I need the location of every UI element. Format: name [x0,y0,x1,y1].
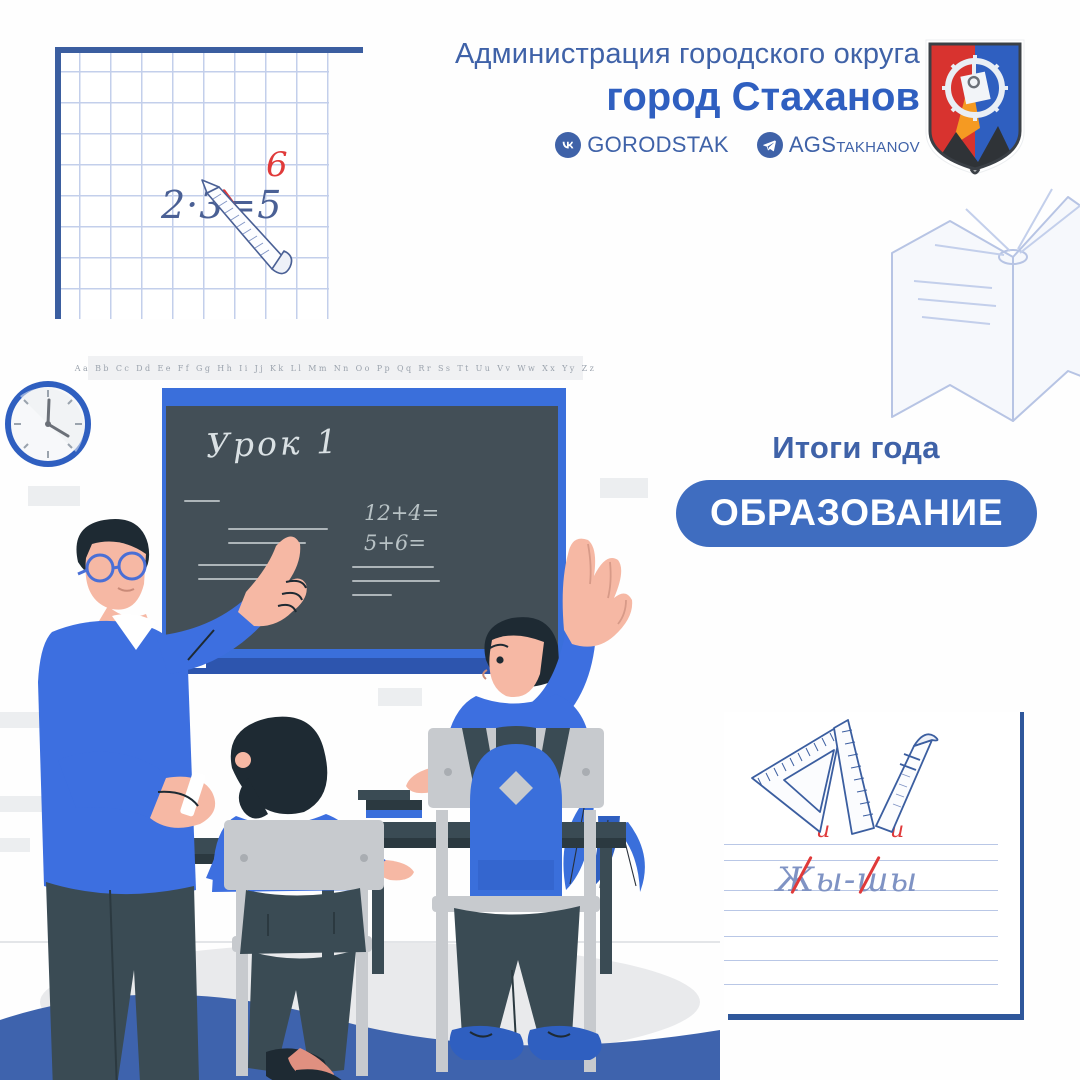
poster-canvas: 2·3=5 6 Администрация городского округа … [0,0,1080,1080]
telegram-icon [757,132,783,158]
coat-of-arms [922,36,1028,178]
ruler-and-pencil-icons [724,712,1020,1014]
city-name: город Стаханов [360,75,920,120]
telegram-handle: AGStakhanov [789,132,920,158]
open-book-icon [880,185,1080,450]
org-name: Администрация городского округа [360,38,920,71]
category-pill[interactable]: ОБРАЗОВАНИЕ [676,480,1037,547]
grid-pencil-icon [61,53,329,319]
frame-bottom-right-horizontal-line [728,1014,1024,1020]
social-links: GORODSTAK AGStakhanov [360,132,920,158]
vk-icon [555,132,581,158]
lined-paper-art: Жы-шы и и [724,712,1020,1014]
social-link-vk[interactable]: GORODSTAK [555,132,729,158]
grid-notebook-art: 2·3=5 6 [61,53,329,319]
vk-handle: GORODSTAK [587,132,729,158]
header: Администрация городского округа город Ст… [360,38,920,158]
classroom-illustration [0,330,720,1080]
pencil-icon [876,734,938,832]
social-link-telegram[interactable]: AGStakhanov [757,132,920,158]
